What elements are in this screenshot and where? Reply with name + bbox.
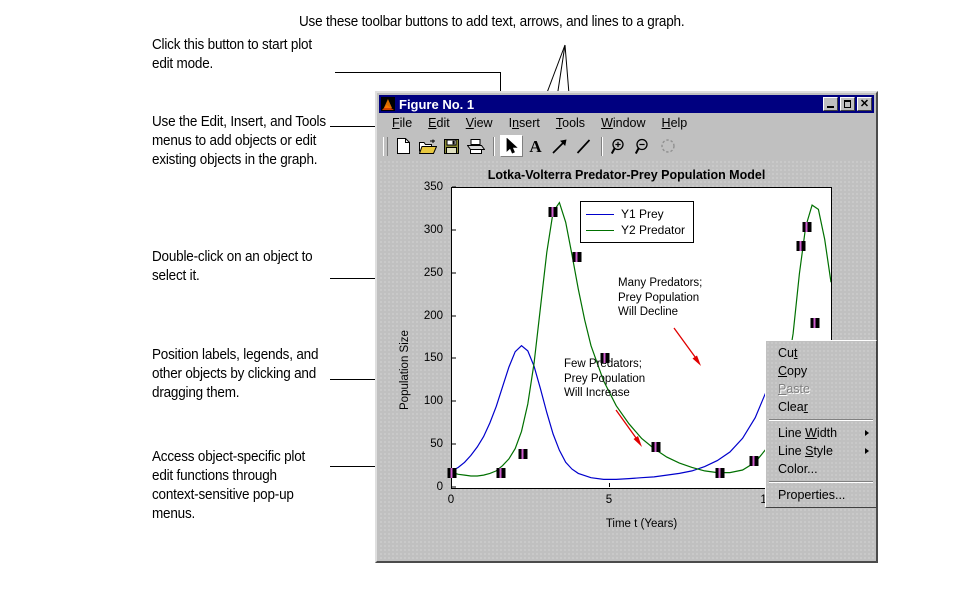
annotation-few-predators[interactable]: Few Predators; Prey Population Will Incr… (564, 357, 645, 401)
page-root: Use these toolbar buttons to add text, a… (0, 0, 956, 601)
selection-handle[interactable] (601, 353, 610, 363)
insert-text-icon[interactable]: A (524, 135, 547, 157)
context-menu[interactable]: Cut Copy Paste Clear Line Width Line Sty… (765, 340, 877, 508)
y-tick-label: 100 (424, 395, 443, 407)
selection-handle[interactable] (803, 222, 812, 232)
x-tick-mark (609, 483, 610, 487)
menu-file[interactable]: File (385, 115, 419, 131)
selection-handle[interactable] (651, 442, 660, 452)
y-tick-label: 50 (430, 438, 443, 450)
zoom-in-icon[interactable] (608, 135, 631, 157)
window-buttons: ✕ (823, 97, 874, 111)
x-tick-label: 5 (606, 494, 612, 506)
selection-handle[interactable] (716, 468, 725, 478)
insert-text-glyph: A (529, 138, 541, 155)
menu-view[interactable]: View (459, 115, 500, 131)
menu-tools[interactable]: Tools (549, 115, 592, 131)
x-axis-label: Time t (Years) (451, 518, 832, 530)
new-figure-icon[interactable] (392, 135, 415, 157)
context-menu-separator-2 (769, 481, 873, 483)
y-tick-mark (452, 229, 456, 230)
context-menu-item-properties[interactable]: Properties... (766, 486, 876, 504)
context-menu-item-color[interactable]: Color... (766, 460, 876, 478)
selection-handle[interactable] (549, 207, 558, 217)
y-tick-mark (452, 401, 456, 402)
legend-label-predator: Y2 Predator (621, 223, 685, 237)
selection-handle[interactable] (572, 252, 581, 262)
menu-insert[interactable]: Insert (502, 115, 547, 131)
legend-label-prey: Y1 Prey (621, 207, 664, 221)
tool-bar: A (379, 133, 874, 159)
callout-menus: Use the Edit, Insert, and Tools menus to… (152, 113, 375, 170)
y-tick-label: 150 (424, 352, 443, 364)
x-tick-label: 0 (448, 494, 454, 506)
y-tick-label: 250 (424, 267, 443, 279)
y-tick-mark (452, 358, 456, 359)
rotate-3d-icon[interactable] (656, 135, 679, 157)
legend-entry-prey: Y1 Prey (586, 206, 685, 222)
callout-double-click: Double-click on an object to select it. (152, 248, 366, 286)
y-tick-label: 300 (424, 224, 443, 236)
selection-handle[interactable] (811, 318, 820, 328)
toolbar-separator-1 (493, 137, 495, 156)
y-axis-label: Population Size (399, 330, 411, 410)
print-figure-icon[interactable] (464, 135, 487, 157)
maximize-button[interactable] (840, 97, 855, 111)
save-figure-icon[interactable] (440, 135, 463, 157)
legend-line-prey (586, 214, 614, 215)
y-tick-mark (452, 187, 456, 188)
context-menu-item-cut[interactable]: Cut (766, 344, 876, 362)
minimize-button[interactable] (823, 97, 838, 111)
context-menu-item-clear[interactable]: Clear (766, 398, 876, 416)
leader-plot-edit (335, 72, 501, 73)
y-tick-label: 200 (424, 310, 443, 322)
toolbar-separator-2 (601, 137, 603, 156)
toolbar-grip[interactable] (383, 137, 388, 156)
context-menu-item-line-width[interactable]: Line Width (766, 424, 876, 442)
context-menu-separator-1 (769, 419, 873, 421)
plot-legend[interactable]: Y1 Prey Y2 Predator (580, 201, 694, 243)
menu-bar: File Edit View Insert Tools Window Help (379, 114, 874, 132)
callout-plot-edit-mode: Click this button to start plot edit mod… (152, 36, 366, 74)
context-menu-item-line-style[interactable]: Line Style (766, 442, 876, 460)
window-title: Figure No. 1 (399, 97, 474, 112)
callout-context-menus: Access object-specific plot edit functio… (152, 448, 366, 524)
y-tick-mark (452, 315, 456, 316)
selection-handle[interactable] (796, 241, 805, 251)
annotation-many-predators[interactable]: Many Predators; Prey Population Will Dec… (618, 276, 702, 320)
context-menu-item-paste: Paste (766, 380, 876, 398)
title-bar[interactable]: Figure No. 1 ✕ (379, 95, 874, 113)
matlab-logo-icon (381, 97, 395, 111)
y-tick-label: 0 (437, 481, 443, 493)
x-tick-mark (451, 483, 452, 487)
y-tick-label: 350 (424, 181, 443, 193)
selection-handle[interactable] (749, 456, 758, 466)
callout-toolbar-buttons: Use these toolbar buttons to add text, a… (299, 13, 783, 32)
close-button[interactable]: ✕ (857, 97, 872, 111)
submenu-arrow-icon (865, 448, 869, 454)
y-tick-mark (452, 444, 456, 445)
legend-entry-predator: Y2 Predator (586, 222, 685, 238)
context-menu-item-copy[interactable]: Copy (766, 362, 876, 380)
y-tick-mark (452, 272, 456, 273)
selection-handle[interactable] (496, 468, 505, 478)
chart-title: Lotka-Volterra Predator-Prey Population … (379, 168, 874, 182)
edit-plot-arrow-icon[interactable] (500, 135, 523, 157)
selection-handle[interactable] (519, 449, 528, 459)
zoom-out-icon[interactable] (632, 135, 655, 157)
menu-window[interactable]: Window (594, 115, 652, 131)
open-file-icon[interactable] (416, 135, 439, 157)
selection-handle[interactable] (448, 468, 457, 478)
y-tick-mark (452, 487, 456, 488)
menu-help[interactable]: Help (655, 115, 695, 131)
menu-edit[interactable]: Edit (421, 115, 457, 131)
submenu-arrow-icon (865, 430, 869, 436)
callout-position-objects: Position labels, legends, and other obje… (152, 346, 371, 403)
legend-line-predator (586, 230, 614, 231)
insert-line-icon[interactable] (572, 135, 595, 157)
insert-arrow-icon[interactable] (548, 135, 571, 157)
